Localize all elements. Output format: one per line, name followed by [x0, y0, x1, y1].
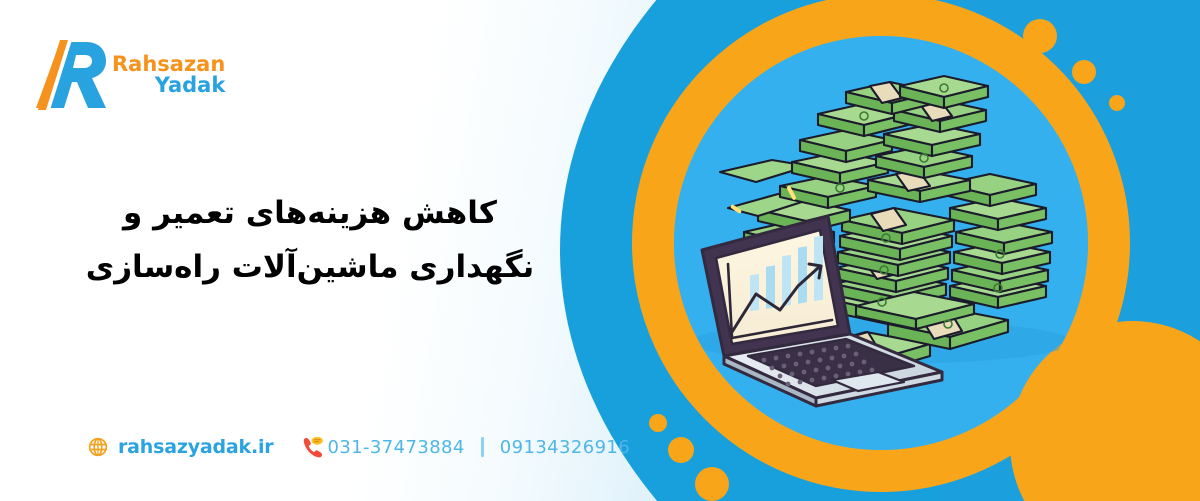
phone-number[interactable]: 031-37473884 — [327, 437, 464, 458]
phone-icon — [301, 436, 325, 458]
logo-wordmark: Rahsazan Yadak — [112, 54, 225, 97]
illustration-group — [632, 0, 1130, 492]
contact-bar: rahsazyadak.ir 031-37473884 09134326916 — [88, 432, 630, 462]
promo-banner: Rahsazan Yadak کاهش هزینه‌های تعمیر و نگ… — [0, 0, 1200, 501]
globe-icon — [88, 437, 108, 457]
logo-line-rahsazan: Rahsazan — [112, 54, 225, 75]
headline: کاهش هزینه‌های تعمیر و نگهداری ماشین‌آلا… — [45, 186, 575, 295]
mobile-number[interactable]: 09134326916 — [500, 437, 630, 458]
headline-line-1: کاهش هزینه‌های تعمیر و — [45, 186, 575, 240]
website-link[interactable]: rahsazyadak.ir — [118, 436, 273, 458]
headline-line-2: نگهداری ماشین‌آلات راه‌سازی — [45, 240, 575, 294]
logo-line-yadak: Yadak — [112, 75, 225, 96]
contact-separator — [481, 437, 484, 457]
brand-logo[interactable]: Rahsazan Yadak — [34, 34, 204, 112]
laptop-money-illustration — [632, 0, 1130, 492]
rahsazan-yadak-logo-mark — [34, 38, 110, 112]
